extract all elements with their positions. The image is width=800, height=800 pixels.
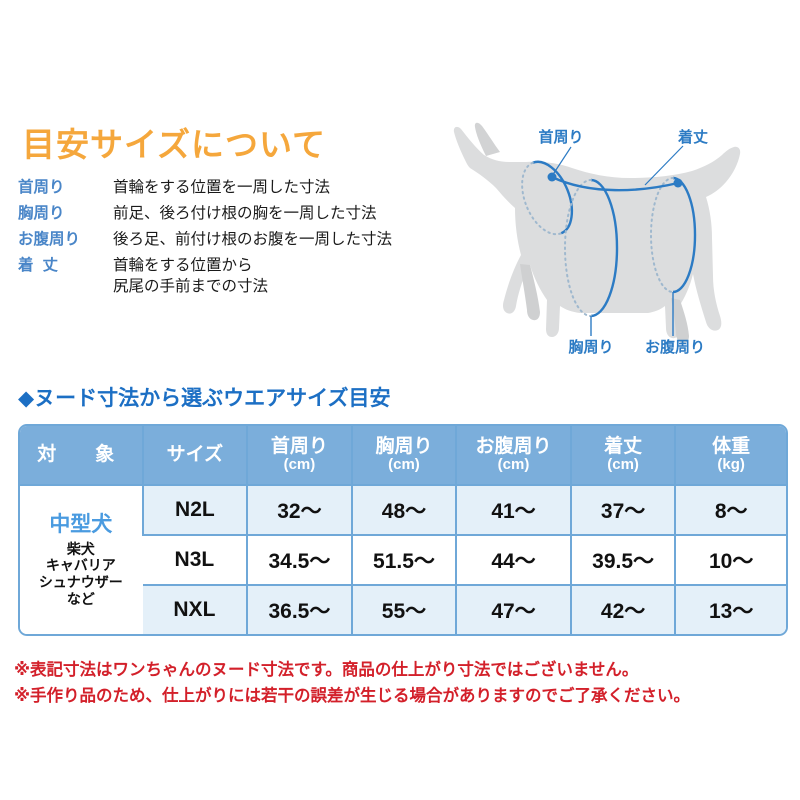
dog-silhouette-icon xyxy=(454,123,740,343)
col-header-belly: お腹周り (cm) xyxy=(456,426,571,485)
diagram-label-belly: お腹周り xyxy=(645,338,705,356)
legend-desc-chest: 前足、後ろ付け根の胸を一周した寸法 xyxy=(113,204,377,225)
col-header-length-label: 着丈 xyxy=(604,436,642,457)
cell-length: 42〜 xyxy=(571,585,676,634)
cell-chest: 48〜 xyxy=(352,485,457,535)
cell-length: 39.5〜 xyxy=(571,535,676,585)
col-header-chest-label: 胸周り xyxy=(375,436,432,457)
size-table: 対 象 サイズ 首周り (cm) 胸周り (cm) お腹周り xyxy=(20,426,786,634)
col-header-belly-label: お腹周り xyxy=(476,436,552,457)
col-header-target: 対 象 xyxy=(20,426,143,485)
legend-item-neck: 首周り 首輪をする位置を一周した寸法 xyxy=(18,178,438,199)
col-header-chest-unit: (cm) xyxy=(353,457,456,473)
cell-neck: 34.5〜 xyxy=(247,535,352,585)
col-header-weight: 体重 (kg) xyxy=(675,426,786,485)
legend-term-belly: お腹周り xyxy=(18,230,113,251)
legend-item-length: 着丈 首輪をする位置から 尻尾の手前までの寸法 xyxy=(18,256,438,298)
cell-size: N3L xyxy=(143,535,248,585)
legend-desc-length: 首輪をする位置から 尻尾の手前までの寸法 xyxy=(113,256,268,298)
legend-item-chest: 胸周り 前足、後ろ付け根の胸を一周した寸法 xyxy=(18,204,438,225)
cell-length: 37〜 xyxy=(571,485,676,535)
cell-weight: 8〜 xyxy=(675,485,786,535)
legend-item-belly: お腹周り 後ろ足、前付け根のお腹を一周した寸法 xyxy=(18,230,438,251)
target-cell: 中型犬 柴犬 キャバリア シュナウザー など xyxy=(20,485,143,634)
target-main-label: 中型犬 xyxy=(20,512,142,538)
dog-measurement-diagram: 首周り 着丈 胸周り お腹周り xyxy=(430,100,800,380)
table-row: 中型犬 柴犬 キャバリア シュナウザー など N2L 32〜 48〜 41〜 3… xyxy=(20,485,786,535)
col-header-length-unit: (cm) xyxy=(572,457,675,473)
footnote-nude-measurement: ※表記寸法はワンちゃんのヌード寸法です。商品の仕上がり寸法ではございません。 xyxy=(14,658,794,684)
cell-size: NXL xyxy=(143,585,248,634)
col-header-length: 着丈 (cm) xyxy=(571,426,676,485)
cell-neck: 32〜 xyxy=(247,485,352,535)
col-header-neck: 首周り (cm) xyxy=(247,426,352,485)
page-title: 目安サイズについて xyxy=(22,118,326,166)
col-header-size: サイズ xyxy=(143,426,248,485)
cell-weight: 13〜 xyxy=(675,585,786,634)
diagram-label-neck: 首周り xyxy=(538,128,583,146)
col-header-chest: 胸周り (cm) xyxy=(352,426,457,485)
target-sub-label: 柴犬 キャバリア シュナウザー など xyxy=(20,541,142,608)
col-header-weight-unit: (kg) xyxy=(676,457,786,473)
section-heading: ◆ヌード寸法から選ぶウエアサイズ目安 xyxy=(18,382,391,412)
col-header-weight-label: 体重 xyxy=(712,436,750,457)
legend-desc-belly: 後ろ足、前付け根のお腹を一周した寸法 xyxy=(113,230,392,251)
diagram-label-chest: 胸周り xyxy=(568,338,613,356)
cell-belly: 44〜 xyxy=(456,535,571,585)
col-header-target-label: 対 象 xyxy=(37,444,124,465)
size-guide-page: 目安サイズについて 首周り 首輪をする位置を一周した寸法 胸周り 前足、後ろ付け… xyxy=(0,0,800,800)
legend-term-neck: 首周り xyxy=(18,178,113,199)
size-table-container: 対 象 サイズ 首周り (cm) 胸周り (cm) お腹周り xyxy=(18,424,788,636)
col-header-neck-label: 首周り xyxy=(271,436,328,457)
col-header-belly-unit: (cm) xyxy=(457,457,570,473)
col-header-size-label: サイズ xyxy=(167,444,223,465)
diagram-label-length: 着丈 xyxy=(677,128,708,146)
legend-term-chest: 胸周り xyxy=(18,204,113,225)
footnote-handmade-tolerance: ※手作り品のため、仕上がりには若干の誤差が生じる場合がありますのでご了承ください… xyxy=(14,684,794,710)
cell-chest: 55〜 xyxy=(352,585,457,634)
measurement-legend: 首周り 首輪をする位置を一周した寸法 胸周り 前足、後ろ付け根の胸を一周した寸法… xyxy=(18,178,438,303)
cell-belly: 41〜 xyxy=(456,485,571,535)
cell-neck: 36.5〜 xyxy=(247,585,352,634)
table-header-row: 対 象 サイズ 首周り (cm) 胸周り (cm) お腹周り xyxy=(20,426,786,485)
cell-chest: 51.5〜 xyxy=(352,535,457,585)
legend-desc-neck: 首輪をする位置を一周した寸法 xyxy=(113,178,330,199)
col-header-neck-unit: (cm) xyxy=(248,457,351,473)
cell-belly: 47〜 xyxy=(456,585,571,634)
footnotes: ※表記寸法はワンちゃんのヌード寸法です。商品の仕上がり寸法ではございません。 ※… xyxy=(14,658,794,709)
cell-weight: 10〜 xyxy=(675,535,786,585)
cell-size: N2L xyxy=(143,485,248,535)
legend-term-length: 着丈 xyxy=(18,256,113,277)
